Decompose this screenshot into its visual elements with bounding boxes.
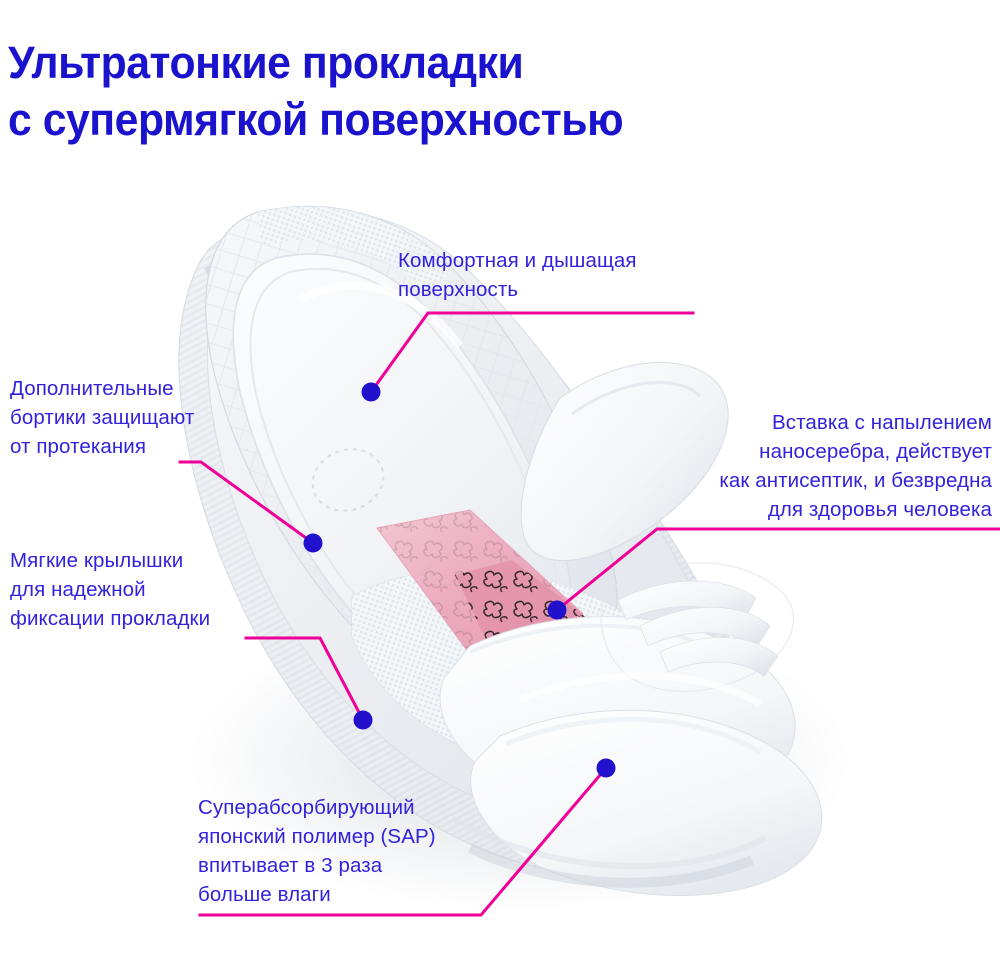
page-title: Ультратонкие прокладки с супермягкой пов… [8, 34, 920, 148]
callout-text-surface: Комфортная и дышащая поверхность [398, 246, 698, 304]
infographic-canvas: Ультратонкие прокладки с супермягкой пов… [0, 0, 1000, 968]
callout-text-silver: Вставка с напылением наносеребра, действ… [642, 408, 992, 524]
callout-text-borders: Дополнительные бортики защищают от проте… [10, 374, 260, 461]
callout-text-sap: Суперабсорбирующий японский полимер (SAP… [198, 793, 498, 909]
callout-text-wings: Мягкие крылышки для надежной фиксации пр… [10, 546, 270, 633]
